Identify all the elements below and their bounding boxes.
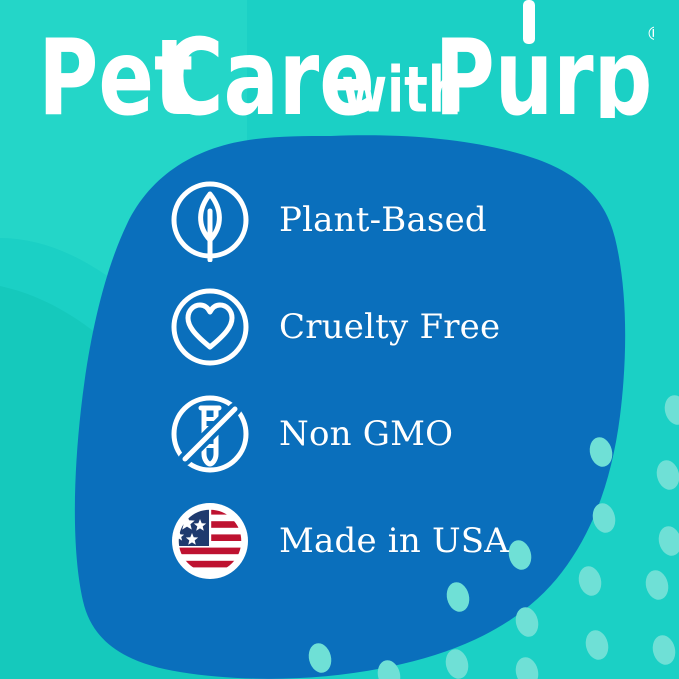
decor-dot	[513, 605, 542, 639]
decor-dot	[583, 628, 612, 662]
decor-dot	[590, 501, 619, 535]
decor-dot	[444, 580, 473, 614]
claim-label-non-gmo: Non GMO	[279, 417, 453, 451]
claims-list: Plant-Based Cruelty Free	[168, 178, 568, 583]
claim-non-gmo[interactable]: Non GMO	[168, 392, 568, 476]
no-test-tube-icon	[168, 392, 252, 476]
decor-dot	[375, 658, 404, 679]
decor-dot	[654, 458, 679, 492]
white-top-mark	[523, 0, 535, 44]
claim-cruelty-free[interactable]: Cruelty Free	[168, 285, 568, 369]
claim-plant-based[interactable]: Plant-Based	[168, 178, 568, 262]
usa-flag-badge-icon	[168, 499, 252, 583]
promo-graphic: Pet Care with Purpose ® Plant-Based	[0, 0, 679, 679]
decor-dot	[306, 641, 335, 675]
claim-label-plant-based: Plant-Based	[279, 203, 487, 237]
heart-in-circle-icon	[168, 285, 252, 369]
leaf-in-circle-icon	[168, 178, 252, 262]
decor-dot	[656, 524, 679, 558]
claim-label-made-in-usa: Made in USA	[279, 524, 509, 558]
decor-dot	[587, 435, 616, 469]
claim-made-in-usa[interactable]: Made in USA	[168, 499, 568, 583]
claim-label-cruelty-free: Cruelty Free	[279, 310, 500, 344]
decor-dot	[513, 655, 542, 679]
decor-dot	[643, 568, 672, 602]
decor-dot	[650, 633, 679, 667]
decor-dot	[662, 393, 679, 427]
decor-dot	[576, 564, 605, 598]
decor-dot	[443, 647, 472, 679]
